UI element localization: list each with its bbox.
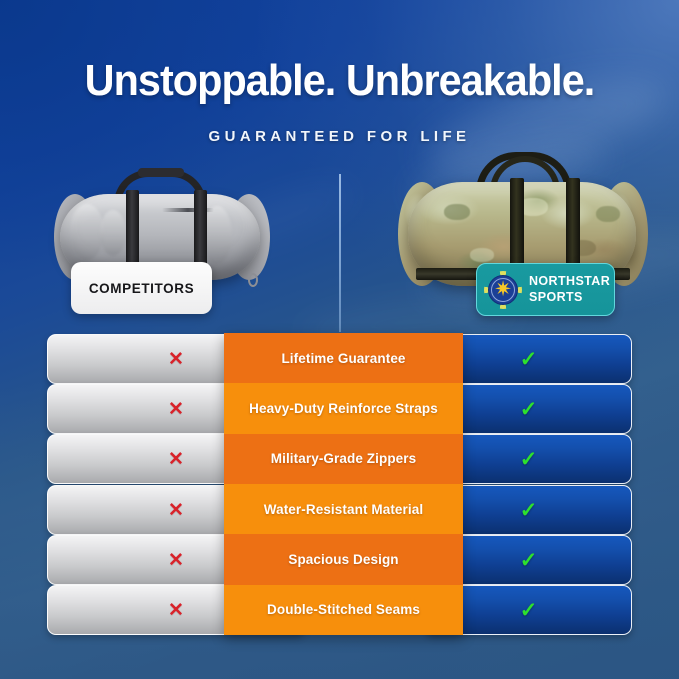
check-icon: ✓ xyxy=(520,500,538,521)
cross-icon: ✕ xyxy=(168,551,184,570)
check-icon: ✓ xyxy=(520,550,538,571)
feature-label: Lifetime Guarantee xyxy=(224,333,463,383)
feature-column: Lifetime Guarantee Heavy-Duty Reinforce … xyxy=(224,333,463,635)
comparison-infographic: Unstoppable. Unbreakable. GUARANTEED FOR… xyxy=(0,0,679,679)
cross-icon: ✕ xyxy=(168,450,184,469)
cross-icon: ✕ xyxy=(168,501,184,520)
feature-label: Heavy-Duty Reinforce Straps xyxy=(224,383,463,433)
check-icon: ✓ xyxy=(520,600,538,621)
feature-label: Spacious Design xyxy=(224,534,463,584)
cross-icon: ✕ xyxy=(168,350,184,369)
cross-icon: ✕ xyxy=(168,400,184,419)
check-icon: ✓ xyxy=(520,449,538,470)
feature-label: Double-Stitched Seams xyxy=(224,585,463,635)
feature-label: Water-Resistant Material xyxy=(224,484,463,534)
feature-label: Military-Grade Zippers xyxy=(224,434,463,484)
cross-icon: ✕ xyxy=(168,601,184,620)
check-icon: ✓ xyxy=(520,349,538,370)
check-icon: ✓ xyxy=(520,399,538,420)
